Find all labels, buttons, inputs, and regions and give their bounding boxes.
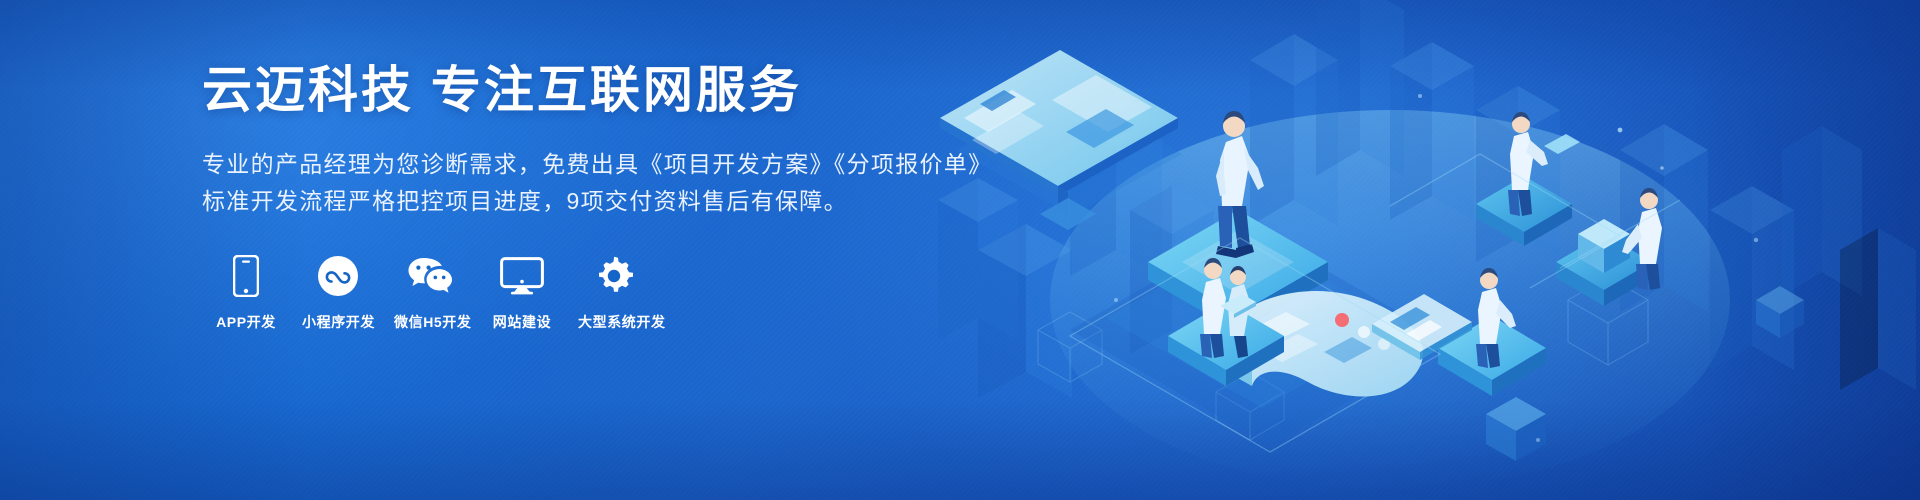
service-label-website: 网站建设 xyxy=(486,312,558,332)
service-list: APP开发 小程序开发 xyxy=(210,254,962,332)
service-item-mini-program[interactable]: 小程序开发 xyxy=(302,254,374,332)
service-item-app[interactable]: APP开发 xyxy=(210,254,282,332)
service-label-app: APP开发 xyxy=(210,312,282,332)
monitor-icon xyxy=(486,254,558,298)
service-item-wechat[interactable]: 微信H5开发 xyxy=(394,254,466,332)
gear-icon xyxy=(578,254,650,298)
page-title: 云迈科技 专注互联网服务 xyxy=(202,62,962,120)
isometric-illustration xyxy=(920,0,1920,500)
service-label-mini-program: 小程序开发 xyxy=(302,312,374,332)
subtitle-block: 专业的产品经理为您诊断需求，免费出具《项目开发方案》《分项报价单》 标准开发流程… xyxy=(202,146,962,221)
mini-program-icon xyxy=(302,254,374,298)
service-item-large-system[interactable]: 大型系统开发 xyxy=(578,254,650,332)
mobile-phone-icon xyxy=(210,254,282,298)
service-label-large-system: 大型系统开发 xyxy=(578,312,650,332)
wechat-icon xyxy=(394,254,466,298)
subtitle-line-2: 标准开发流程严格把控项目进度，9项交付资料售后有保障。 xyxy=(202,183,962,220)
subtitle-line-1: 专业的产品经理为您诊断需求，免费出具《项目开发方案》《分项报价单》 xyxy=(202,146,962,183)
hero-banner: 云迈科技 专注互联网服务 专业的产品经理为您诊断需求，免费出具《项目开发方案》《… xyxy=(0,0,1920,500)
banner-content: 云迈科技 专注互联网服务 专业的产品经理为您诊断需求，免费出具《项目开发方案》《… xyxy=(202,62,962,332)
service-label-wechat: 微信H5开发 xyxy=(394,312,466,332)
service-item-website[interactable]: 网站建设 xyxy=(486,254,558,332)
